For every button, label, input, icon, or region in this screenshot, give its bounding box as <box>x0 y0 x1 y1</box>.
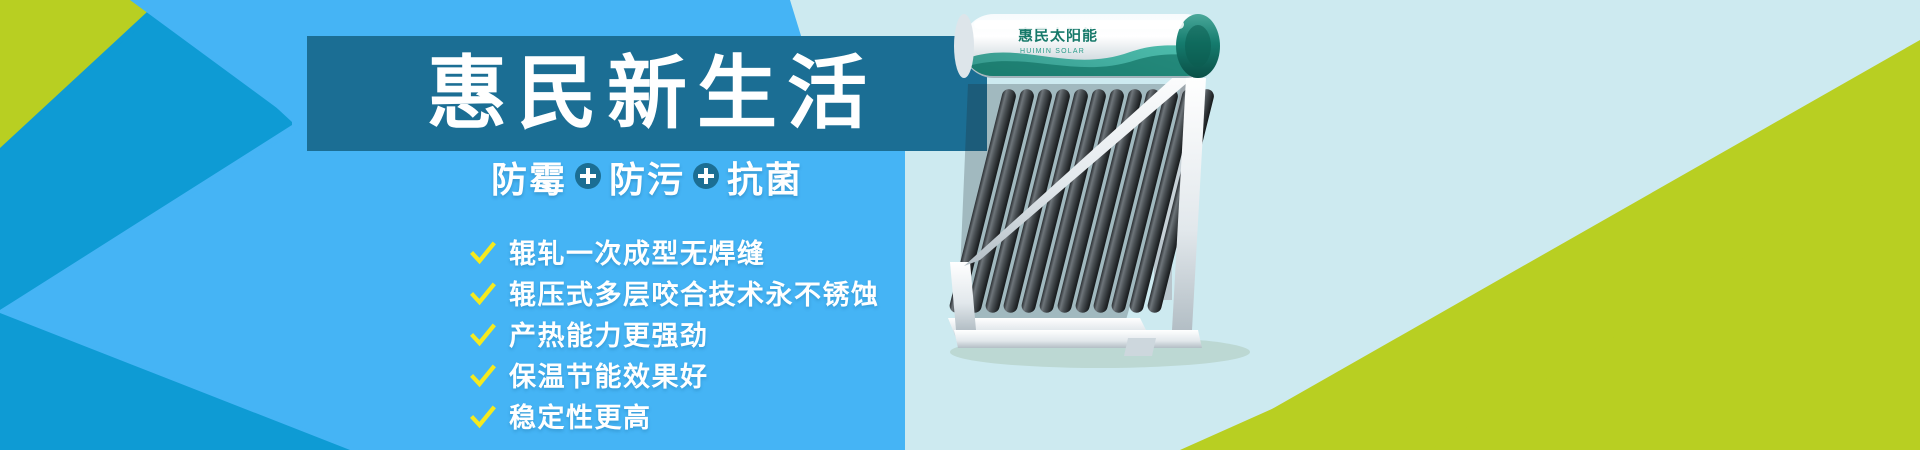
check-icon <box>470 282 496 308</box>
promo-banner: 惠民新生活 防霉防污抗菌 辊轧一次成型无焊缝 辊压式多层咬 <box>0 0 1920 450</box>
plus-circle-icon <box>575 163 601 189</box>
frame-bottom-bar <box>954 330 1202 348</box>
list-item-label: 产热能力更强劲 <box>509 323 709 350</box>
title-plate: 惠民新生活 <box>307 36 987 151</box>
tank-sub-text: HUIMIN SOLAR <box>1020 48 1085 55</box>
tank-left-end <box>954 14 974 78</box>
storage-tank: 惠民太阳能 HUIMIN SOLAR <box>954 14 1222 84</box>
subtitle-part-3: 抗菌 <box>727 159 803 200</box>
subtitle: 防霉防污抗菌 <box>307 162 987 198</box>
list-item: 稳定性更高 <box>470 402 880 434</box>
check-icon <box>470 323 496 349</box>
plus-circle-icon <box>693 163 719 189</box>
frame-foot <box>1124 338 1156 356</box>
list-item-label: 辊压式多层咬合技术永不锈蚀 <box>509 282 880 309</box>
content-column: 惠民新生活 防霉防污抗菌 辊轧一次成型无焊缝 辊压式多层咬 <box>0 0 1000 450</box>
list-item: 辊压式多层咬合技术永不锈蚀 <box>470 279 880 311</box>
list-item: 辊轧一次成型无焊缝 <box>470 238 880 270</box>
list-item-label: 保温节能效果好 <box>509 364 709 391</box>
list-item-label: 稳定性更高 <box>509 405 652 432</box>
subtitle-part-1: 防霉 <box>491 159 567 200</box>
check-icon <box>470 405 496 431</box>
check-icon <box>470 364 496 390</box>
subtitle-part-2: 防污 <box>609 159 685 200</box>
feature-list: 辊轧一次成型无焊缝 辊压式多层咬合技术永不锈蚀 产热能力更强劲 <box>470 238 880 443</box>
check-icon <box>470 241 496 267</box>
list-item-label: 辊轧一次成型无焊缝 <box>509 241 766 268</box>
page-title: 惠民新生活 <box>307 54 987 134</box>
list-item: 产热能力更强劲 <box>470 320 880 352</box>
list-item: 保温节能效果好 <box>470 361 880 393</box>
product-image-solar-water-heater: 惠民太阳能 HUIMIN SOLAR <box>940 0 1380 450</box>
